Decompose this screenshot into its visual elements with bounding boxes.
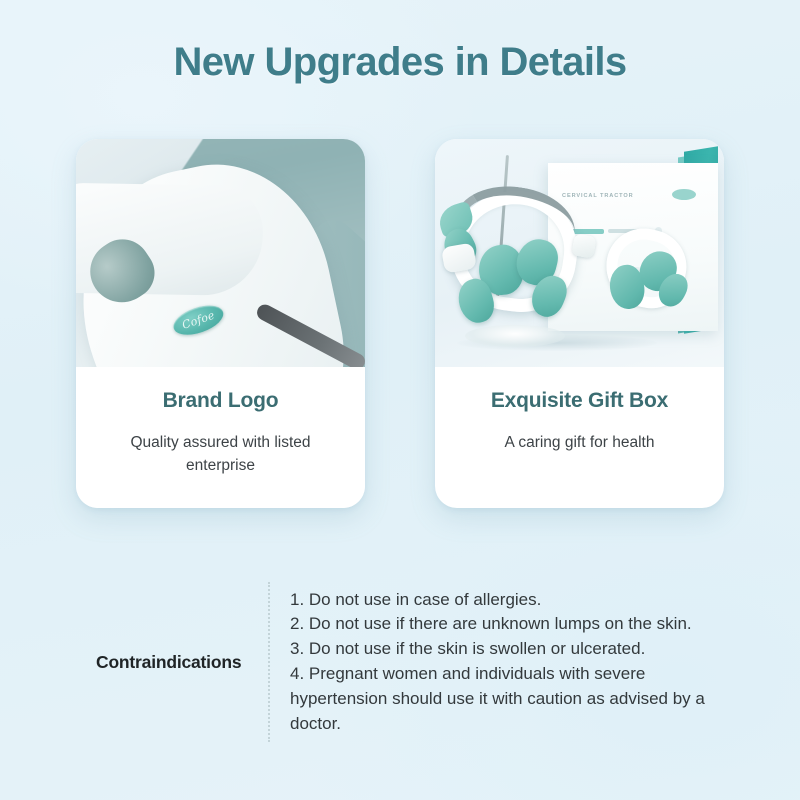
brand-logo-card-body: Brand Logo Quality assured with listed e… <box>76 367 365 508</box>
list-item: 1. Do not use in case of allergies. <box>290 588 736 613</box>
list-item: 4. Pregnant women and individuals with s… <box>290 662 736 736</box>
giftbox-product-artwork <box>594 221 702 321</box>
feature-card-brand-logo[interactable]: Cofoe Brand Logo Quality assured with li… <box>76 139 365 508</box>
product-base <box>465 325 565 347</box>
giftbox-logo-chip-icon <box>672 189 696 200</box>
list-item: 2. Do not use if there are unknown lumps… <box>290 612 736 637</box>
cervical-tractor-product <box>441 183 593 343</box>
gift-box-card-title: Exquisite Gift Box <box>453 389 706 413</box>
gift-box-card-description: A caring gift for health <box>453 431 706 454</box>
contraindications-section: Contraindications 1. Do not use in case … <box>96 582 736 742</box>
brand-logo-card-title: Brand Logo <box>94 389 347 413</box>
promo-page: New Upgrades in Details Cofoe Brand Logo… <box>0 0 800 800</box>
list-item: 3. Do not use if the skin is swollen or … <box>290 637 736 662</box>
contraindications-divider <box>268 582 270 742</box>
brand-logo-photo: Cofoe <box>76 139 365 367</box>
feature-card-gift-box[interactable]: CERVICAL TRACTOR <box>435 139 724 508</box>
page-title: New Upgrades in Details <box>0 40 800 85</box>
feature-cards: Cofoe Brand Logo Quality assured with li… <box>76 139 724 508</box>
brand-logo-badge-text: Cofoe <box>180 309 216 332</box>
product-adjust-knob-right <box>571 233 596 258</box>
brand-logo-card-description: Quality assured with listed enterprise <box>94 431 347 478</box>
gift-box-photo: CERVICAL TRACTOR <box>435 139 724 367</box>
brand-logo-badge-icon: Cofoe <box>170 300 227 341</box>
contraindications-list: 1. Do not use in case of allergies. 2. D… <box>290 588 736 737</box>
gift-box-card-body: Exquisite Gift Box A caring gift for hea… <box>435 367 724 484</box>
contraindications-label: Contraindications <box>96 652 268 673</box>
